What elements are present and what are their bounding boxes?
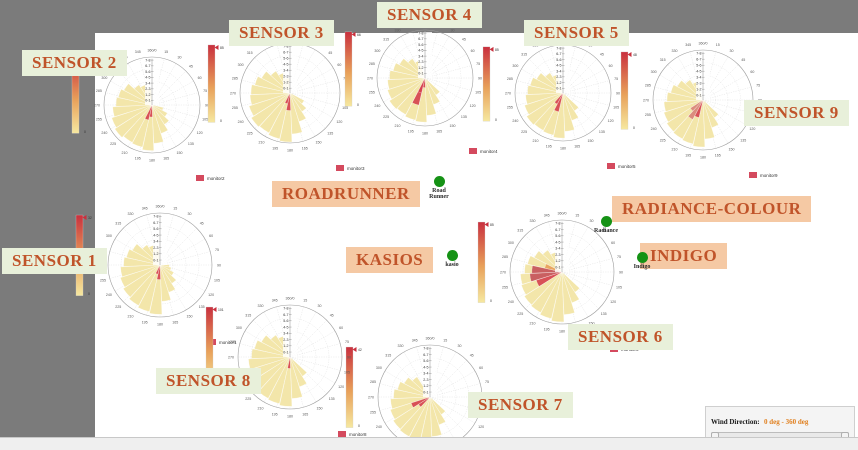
svg-text:120: 120	[749, 127, 755, 131]
svg-text:5-6: 5-6	[145, 70, 150, 74]
svg-text:285: 285	[502, 255, 508, 259]
svg-text:30: 30	[458, 344, 462, 348]
svg-text:6-7: 6-7	[283, 313, 288, 317]
svg-text:285: 285	[645, 84, 651, 88]
svg-text:300: 300	[512, 64, 518, 68]
svg-text:45: 45	[600, 52, 604, 56]
svg-text:5-6: 5-6	[556, 58, 561, 62]
svg-text:150: 150	[729, 148, 735, 152]
svg-text:1-2: 1-2	[696, 87, 701, 91]
svg-text:75: 75	[345, 340, 349, 344]
svg-text:120: 120	[197, 131, 203, 135]
svg-text:120: 120	[336, 120, 342, 124]
svg-text:240: 240	[101, 131, 107, 135]
window-bottom-strip	[0, 437, 858, 450]
svg-text:240: 240	[376, 425, 382, 429]
svg-text:285: 285	[507, 77, 513, 81]
svg-text:4-5: 4-5	[418, 49, 423, 53]
svg-text:300: 300	[651, 70, 657, 74]
svg-text:4-5: 4-5	[283, 62, 288, 66]
svg-text:5-6: 5-6	[283, 56, 288, 60]
svg-text:7-8: 7-8	[556, 46, 561, 50]
svg-text:315: 315	[521, 52, 527, 56]
svg-text:3-4: 3-4	[283, 68, 288, 72]
svg-text:6-7: 6-7	[555, 228, 560, 232]
svg-text:4-5: 4-5	[145, 76, 150, 80]
svg-text:165: 165	[302, 146, 308, 150]
svg-text:85: 85	[490, 223, 494, 227]
svg-text:75: 75	[485, 380, 489, 384]
svg-text:2-3: 2-3	[696, 81, 701, 85]
svg-text:195: 195	[135, 156, 141, 160]
svg-text:270: 270	[367, 76, 373, 80]
legend-sensor9[interactable]: monitor9	[749, 172, 778, 178]
svg-text:15: 15	[575, 213, 579, 217]
svg-text:285: 285	[232, 77, 238, 81]
company-label-line: kasio	[432, 262, 472, 268]
svg-text:360/0: 360/0	[156, 204, 165, 208]
company-dot-icon	[637, 252, 648, 263]
svg-text:195: 195	[272, 146, 278, 150]
svg-text:32: 32	[88, 216, 92, 220]
svg-text:45: 45	[330, 314, 334, 318]
svg-text:45: 45	[200, 222, 204, 226]
svg-text:2-3: 2-3	[283, 74, 288, 78]
svg-text:30: 30	[178, 56, 182, 60]
svg-text:255: 255	[369, 91, 375, 95]
svg-text:195: 195	[544, 327, 550, 331]
svg-text:225: 225	[115, 305, 121, 309]
svg-text:6-7: 6-7	[696, 57, 701, 61]
svg-text:300: 300	[101, 76, 107, 80]
banner-sensor9: SENSOR 9	[744, 100, 849, 126]
svg-text:60: 60	[471, 49, 475, 53]
banner-sensor4: SENSOR 4	[377, 2, 482, 28]
svg-text:195: 195	[272, 412, 278, 416]
svg-text:150: 150	[177, 151, 183, 155]
legend-swatch-icon	[607, 163, 615, 169]
svg-text:7-8: 7-8	[153, 215, 158, 219]
svg-text:270: 270	[505, 91, 511, 95]
svg-text:285: 285	[369, 62, 375, 66]
svg-text:5-6: 5-6	[423, 359, 428, 363]
svg-text:7-8: 7-8	[145, 58, 150, 62]
svg-text:4-5: 4-5	[556, 64, 561, 68]
svg-text:4-5: 4-5	[423, 365, 428, 369]
svg-text:0-1: 0-1	[283, 86, 288, 90]
svg-text:225: 225	[247, 132, 253, 136]
svg-text:315: 315	[247, 51, 253, 55]
svg-text:2-3: 2-3	[556, 75, 561, 79]
svg-text:7-8: 7-8	[283, 307, 288, 311]
svg-text:120: 120	[610, 300, 616, 304]
svg-text:135: 135	[599, 130, 605, 134]
svg-text:7-8: 7-8	[696, 51, 701, 55]
banner-sensor1: SENSOR 1	[2, 248, 107, 274]
svg-text:315: 315	[660, 58, 666, 62]
svg-text:7-8: 7-8	[555, 222, 560, 226]
app-root: 360/015304560759010512013515016518019521…	[0, 0, 858, 450]
svg-text:225: 225	[521, 130, 527, 134]
svg-text:60: 60	[339, 326, 343, 330]
svg-text:225: 225	[110, 142, 116, 146]
svg-text:330: 330	[672, 49, 678, 53]
svg-text:180: 180	[422, 131, 428, 135]
svg-text:135: 135	[601, 312, 607, 316]
svg-text:255: 255	[507, 106, 513, 110]
svg-text:0: 0	[495, 118, 497, 122]
svg-text:345: 345	[412, 338, 418, 342]
banner-sensor5: SENSOR 5	[524, 20, 629, 46]
svg-text:165: 165	[302, 412, 308, 416]
svg-text:1-2: 1-2	[555, 259, 560, 263]
svg-text:48: 48	[633, 53, 637, 57]
svg-text:330: 330	[395, 29, 401, 33]
svg-text:210: 210	[122, 151, 128, 155]
company-label-line: Runner	[419, 194, 459, 200]
svg-text:345: 345	[135, 50, 141, 54]
svg-text:225: 225	[245, 397, 251, 401]
svg-text:75: 75	[756, 84, 760, 88]
svg-text:210: 210	[395, 124, 401, 128]
svg-text:195: 195	[546, 144, 552, 148]
svg-text:60: 60	[479, 366, 483, 370]
svg-text:270: 270	[500, 270, 506, 274]
svg-text:345: 345	[142, 206, 148, 210]
svg-text:15: 15	[164, 50, 168, 54]
svg-text:210: 210	[672, 148, 678, 152]
svg-text:255: 255	[100, 279, 106, 283]
company-marker-kasios[interactable]: kasio	[432, 250, 472, 268]
svg-text:150: 150	[450, 124, 456, 128]
svg-text:0-1: 0-1	[153, 258, 158, 262]
svg-text:15: 15	[716, 43, 720, 47]
svg-text:0-1: 0-1	[556, 87, 561, 91]
svg-text:6-7: 6-7	[423, 353, 428, 357]
svg-text:15: 15	[173, 206, 177, 210]
svg-text:90: 90	[347, 355, 351, 359]
svg-text:3-4: 3-4	[423, 372, 428, 376]
svg-text:0-1: 0-1	[283, 350, 288, 354]
svg-text:60: 60	[198, 76, 202, 80]
svg-text:165: 165	[574, 144, 580, 148]
svg-text:5-6: 5-6	[283, 319, 288, 323]
company-dot-icon	[434, 176, 445, 187]
svg-text:165: 165	[163, 156, 169, 160]
svg-text:1-2: 1-2	[423, 384, 428, 388]
svg-text:270: 270	[643, 98, 649, 102]
svg-text:150: 150	[317, 406, 323, 410]
svg-text:45: 45	[741, 58, 745, 62]
svg-text:90: 90	[619, 270, 623, 274]
wind-direction-value: 0 deg - 360 deg	[764, 418, 808, 426]
svg-text:255: 255	[502, 286, 508, 290]
legend-sensor3[interactable]: monitor3	[336, 165, 365, 171]
svg-text:225: 225	[517, 312, 523, 316]
svg-text:345: 345	[685, 43, 691, 47]
svg-text:90: 90	[217, 263, 221, 267]
svg-text:180: 180	[559, 329, 565, 333]
svg-text:0-1: 0-1	[696, 93, 701, 97]
company-label-line: Radiance	[586, 228, 626, 234]
svg-text:315: 315	[517, 229, 523, 233]
banner-sensor3: SENSOR 3	[229, 20, 334, 46]
svg-text:30: 30	[188, 212, 192, 216]
company-marker-indigo[interactable]: Indigo	[622, 252, 662, 270]
svg-text:66: 66	[357, 33, 361, 37]
banner-sensor7: SENSOR 7	[468, 392, 573, 418]
company-label: Indigo	[622, 264, 662, 270]
svg-text:195: 195	[685, 153, 691, 157]
svg-text:300: 300	[236, 326, 242, 330]
svg-text:240: 240	[374, 104, 380, 108]
svg-text:240: 240	[651, 127, 657, 131]
svg-text:4-5: 4-5	[555, 240, 560, 244]
svg-text:0: 0	[357, 103, 359, 107]
banner-kasios: KASIOS	[346, 247, 433, 273]
svg-text:1-2: 1-2	[418, 66, 423, 70]
svg-text:300: 300	[508, 241, 514, 245]
svg-text:0-1: 0-1	[418, 72, 423, 76]
svg-text:240: 240	[238, 120, 244, 124]
svg-text:360/0: 360/0	[699, 41, 708, 45]
svg-text:60: 60	[611, 241, 615, 245]
svg-text:135: 135	[327, 132, 333, 136]
svg-text:240: 240	[512, 119, 518, 123]
svg-text:285: 285	[96, 89, 102, 93]
svg-text:60: 60	[609, 64, 613, 68]
svg-text:255: 255	[232, 106, 238, 110]
svg-text:315: 315	[245, 314, 251, 318]
legend-label: monitor3	[347, 166, 365, 171]
svg-text:0-1: 0-1	[145, 99, 150, 103]
svg-text:1-2: 1-2	[153, 252, 158, 256]
svg-text:15: 15	[443, 338, 447, 342]
svg-text:240: 240	[106, 293, 112, 297]
svg-text:105: 105	[616, 286, 622, 290]
svg-text:255: 255	[645, 113, 651, 117]
svg-text:210: 210	[533, 139, 539, 143]
svg-text:2-3: 2-3	[423, 378, 428, 382]
banner-sensor2: SENSOR 2	[22, 50, 127, 76]
svg-text:210: 210	[259, 141, 265, 145]
svg-text:60: 60	[209, 234, 213, 238]
svg-text:120: 120	[470, 104, 476, 108]
svg-text:30: 30	[451, 29, 455, 33]
svg-text:210: 210	[530, 321, 536, 325]
banner-roadrunner: ROADRUNNER	[272, 181, 420, 207]
company-label: kasio	[432, 262, 472, 268]
svg-text:210: 210	[258, 406, 264, 410]
company-label: Radiance	[586, 228, 626, 234]
company-marker-roadrunner[interactable]: RoadRunner	[419, 176, 459, 201]
svg-text:240: 240	[508, 300, 514, 304]
svg-text:195: 195	[408, 129, 414, 133]
svg-text:150: 150	[316, 141, 322, 145]
svg-text:1-2: 1-2	[145, 93, 150, 97]
svg-text:120: 120	[338, 385, 344, 389]
svg-text:0: 0	[633, 126, 635, 130]
svg-text:180: 180	[287, 148, 293, 152]
svg-text:2-3: 2-3	[145, 87, 150, 91]
svg-text:1-2: 1-2	[556, 81, 561, 85]
svg-text:75: 75	[476, 62, 480, 66]
svg-text:330: 330	[530, 219, 536, 223]
legend-swatch-icon	[336, 165, 344, 171]
svg-text:120: 120	[478, 425, 484, 429]
svg-text:30: 30	[318, 304, 322, 308]
svg-text:5-6: 5-6	[555, 234, 560, 238]
svg-text:5-6: 5-6	[153, 227, 158, 231]
svg-text:30: 30	[730, 49, 734, 53]
svg-text:5-6: 5-6	[696, 63, 701, 67]
svg-text:0: 0	[88, 292, 90, 296]
svg-text:300: 300	[106, 234, 112, 238]
windrose-chart-sensor8[interactable]: 360/015304560759010512013515016518019521…	[204, 271, 376, 443]
svg-text:165: 165	[172, 320, 178, 324]
svg-text:360/0: 360/0	[286, 296, 295, 300]
svg-text:180: 180	[700, 155, 706, 159]
svg-text:270: 270	[228, 355, 234, 359]
svg-text:360/0: 360/0	[558, 211, 567, 215]
svg-text:330: 330	[128, 212, 134, 216]
svg-text:45: 45	[328, 51, 332, 55]
svg-text:150: 150	[187, 314, 193, 318]
svg-text:4-5: 4-5	[153, 233, 158, 237]
svg-text:270: 270	[94, 103, 100, 107]
svg-text:75: 75	[215, 248, 219, 252]
company-dot-icon	[447, 250, 458, 261]
svg-text:0: 0	[220, 119, 222, 123]
svg-text:3-4: 3-4	[145, 81, 150, 85]
svg-text:300: 300	[238, 63, 244, 67]
svg-text:85: 85	[495, 48, 499, 52]
svg-text:45: 45	[462, 37, 466, 41]
company-marker-radiance[interactable]: Radiance	[586, 216, 626, 234]
svg-text:210: 210	[128, 314, 134, 318]
wind-direction-label: Wind Direction:	[711, 418, 760, 426]
svg-text:135: 135	[740, 139, 746, 143]
svg-text:120: 120	[608, 119, 614, 123]
svg-text:225: 225	[383, 115, 389, 119]
svg-text:135: 135	[188, 142, 194, 146]
svg-text:1-2: 1-2	[283, 344, 288, 348]
svg-text:195: 195	[142, 320, 148, 324]
svg-text:7-8: 7-8	[418, 31, 423, 35]
svg-text:3-4: 3-4	[283, 332, 288, 336]
svg-text:180: 180	[149, 158, 155, 162]
svg-text:345: 345	[272, 298, 278, 302]
svg-text:3-4: 3-4	[555, 247, 560, 251]
svg-text:345: 345	[544, 213, 550, 217]
svg-text:180: 180	[560, 146, 566, 150]
svg-text:2-3: 2-3	[418, 60, 423, 64]
svg-text:1-2: 1-2	[283, 80, 288, 84]
svg-text:270: 270	[230, 91, 236, 95]
svg-text:330: 330	[398, 344, 404, 348]
svg-text:330: 330	[258, 304, 264, 308]
legend-swatch-icon	[196, 175, 204, 181]
svg-text:4-5: 4-5	[283, 325, 288, 329]
svg-text:7-8: 7-8	[423, 347, 428, 351]
svg-text:2-3: 2-3	[283, 338, 288, 342]
company-label: RoadRunner	[419, 188, 459, 201]
banner-sensor6: SENSOR 6	[568, 324, 673, 350]
svg-text:101: 101	[218, 308, 224, 312]
svg-text:4-5: 4-5	[696, 69, 701, 73]
svg-text:6-7: 6-7	[418, 37, 423, 41]
svg-text:165: 165	[436, 129, 442, 133]
svg-text:360/0: 360/0	[148, 48, 157, 52]
svg-text:5-6: 5-6	[418, 43, 423, 47]
svg-text:45: 45	[470, 354, 474, 358]
svg-text:135: 135	[329, 397, 335, 401]
svg-text:60: 60	[337, 63, 341, 67]
svg-text:180: 180	[287, 414, 293, 418]
svg-text:3-4: 3-4	[556, 69, 561, 73]
banner-sensor8: SENSOR 8	[156, 368, 261, 394]
svg-text:255: 255	[96, 118, 102, 122]
svg-text:315: 315	[115, 222, 121, 226]
company-dot-icon	[601, 216, 612, 227]
svg-text:315: 315	[383, 37, 389, 41]
svg-text:15: 15	[303, 298, 307, 302]
svg-text:135: 135	[461, 115, 467, 119]
svg-text:6-7: 6-7	[283, 50, 288, 54]
svg-text:2-3: 2-3	[555, 253, 560, 257]
svg-text:300: 300	[374, 49, 380, 53]
svg-text:6-7: 6-7	[145, 64, 150, 68]
svg-text:180: 180	[157, 322, 163, 326]
legend-label: monitor8	[349, 432, 367, 437]
legend-label: monitor9	[760, 173, 778, 178]
svg-text:3-4: 3-4	[696, 75, 701, 79]
company-label-line: Indigo	[622, 264, 662, 270]
svg-text:75: 75	[617, 255, 621, 259]
svg-text:0-1: 0-1	[423, 390, 428, 394]
legend-swatch-icon	[469, 148, 477, 154]
svg-text:0: 0	[84, 130, 86, 134]
svg-text:3-4: 3-4	[418, 54, 423, 58]
svg-text:3-4: 3-4	[153, 240, 158, 244]
svg-text:150: 150	[588, 139, 594, 143]
svg-text:0: 0	[490, 299, 492, 303]
banner-radiance: RADIANCE-COLOUR	[612, 196, 811, 222]
svg-text:300: 300	[376, 366, 382, 370]
svg-text:6-7: 6-7	[556, 52, 561, 56]
svg-text:6-7: 6-7	[153, 221, 158, 225]
svg-text:105: 105	[344, 371, 350, 375]
svg-text:165: 165	[715, 153, 721, 157]
svg-text:225: 225	[660, 139, 666, 143]
svg-text:360/0: 360/0	[426, 336, 435, 340]
legend-swatch-icon	[749, 172, 757, 178]
wind-direction-row: Wind Direction: 0 deg - 360 deg	[711, 411, 849, 429]
svg-text:60: 60	[750, 70, 754, 74]
svg-text:75: 75	[614, 77, 618, 81]
svg-text:285: 285	[230, 340, 236, 344]
svg-text:0-1: 0-1	[555, 265, 560, 269]
svg-text:315: 315	[385, 354, 391, 358]
svg-text:2-3: 2-3	[153, 246, 158, 250]
svg-text:85: 85	[220, 46, 224, 50]
svg-text:45: 45	[189, 64, 193, 68]
